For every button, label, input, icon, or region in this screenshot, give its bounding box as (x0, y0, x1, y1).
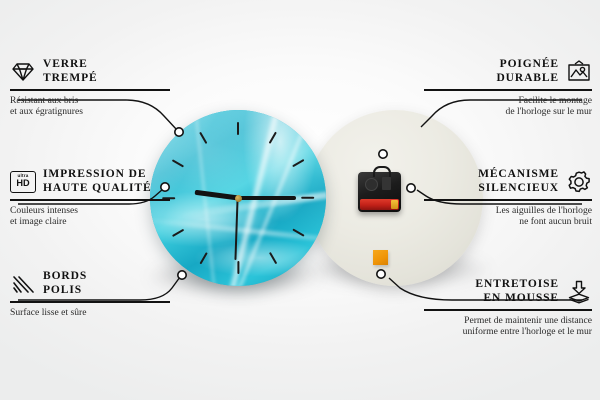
feature-title: IMPRESSION DE HAUTE QUALITÉ (43, 168, 152, 195)
foam-spacer-pad (373, 250, 388, 265)
ultra-hd-icon: ultra HD (10, 169, 36, 195)
feature-description: Résistant aux bris et aux égratignures (10, 95, 170, 118)
hour-marker (237, 261, 239, 274)
feature-divider (424, 309, 592, 311)
mechanism-shaft (365, 178, 378, 191)
feature-title: ENTRETOISE EN MOUSSE (475, 278, 559, 305)
foam-spacer-icon (566, 279, 592, 305)
gear-icon (566, 169, 592, 195)
feature-description: Facilite le montage de l'horloge sur le … (424, 95, 592, 118)
feature-mecanisme-silencieux: MÉCANISME SILENCIEUX Les aiguilles de l'… (424, 168, 592, 228)
clock-front-view (150, 110, 326, 286)
minute-hand (238, 196, 296, 200)
feature-divider (10, 301, 170, 303)
feature-title: BORDS POLIS (43, 270, 87, 297)
feature-impression-haute-qualite: ultra HD IMPRESSION DE HAUTE QUALITÉ Cou… (10, 168, 170, 228)
feature-title: VERRE TREMPÉ (43, 58, 98, 85)
feature-poignee-durable: POIGNÉE DURABLE Facilite le montage de l… (424, 58, 592, 118)
feature-title: MÉCANISME SILENCIEUX (478, 168, 559, 195)
hanger-loop-icon (373, 166, 391, 177)
hands-center-cap (235, 195, 242, 202)
feature-divider (10, 89, 170, 91)
diamond-icon (10, 59, 36, 85)
feature-divider (424, 89, 592, 91)
picture-hanger-icon (566, 59, 592, 85)
product-infographic: VERRE TREMPÉ Résistant aux bris et aux é… (0, 0, 600, 400)
battery-terminal (391, 200, 398, 209)
feature-title: POIGNÉE DURABLE (496, 58, 559, 85)
polished-edges-icon (10, 271, 36, 297)
clock-mechanism (358, 172, 401, 212)
hd-icon-main-label: HD (16, 179, 29, 188)
feature-description: Les aiguilles de l'horloge ne font aucun… (424, 205, 592, 228)
feature-bords-polis: BORDS POLIS Surface lisse et sûre (10, 270, 170, 318)
feature-entretoise-en-mousse: ENTRETOISE EN MOUSSE Permet de maintenir… (424, 278, 592, 338)
feature-verre-trempe: VERRE TREMPÉ Résistant aux bris et aux é… (10, 58, 170, 118)
feature-description: Permet de maintenir une distance uniform… (424, 315, 592, 338)
feature-divider (424, 199, 592, 201)
feature-description: Surface lisse et sûre (10, 307, 170, 319)
mechanism-slot (382, 177, 391, 190)
feature-divider (10, 199, 170, 201)
battery (360, 199, 399, 210)
feature-description: Couleurs intenses et image claire (10, 205, 170, 228)
